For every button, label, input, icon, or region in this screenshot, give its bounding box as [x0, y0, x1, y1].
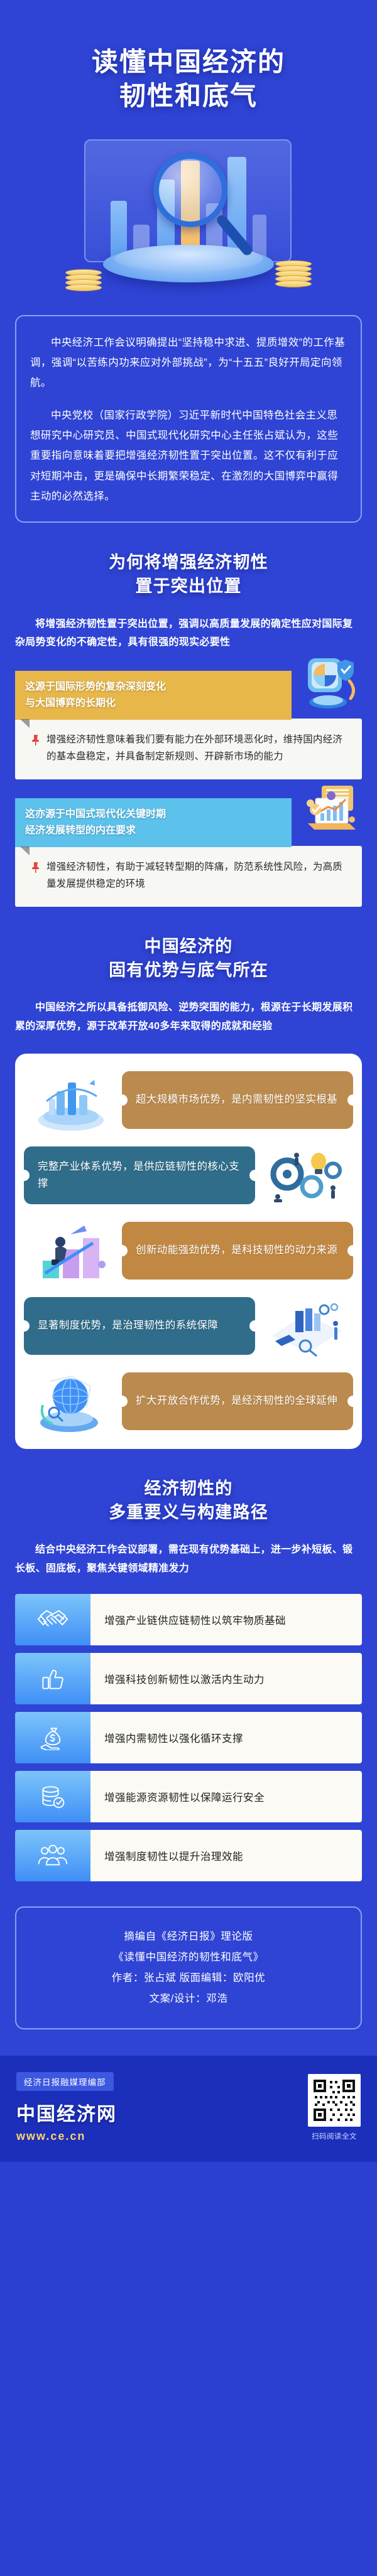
advantage-label: 超大规模市场优势，是内需韧性的坚实根基: [122, 1071, 353, 1129]
advantage-label: 显著制度优势，是治理韧性的系统保障: [24, 1297, 255, 1355]
intro-paragraph-1: 中央经济工作会议明确提出“坚持稳中求进、提质增效”的工作基调，强调“以苦练内功来…: [30, 333, 347, 393]
path-row: 增强制度韧性以提升治理效能: [15, 1830, 362, 1881]
thumbs-up-icon: [15, 1653, 90, 1704]
footer-url[interactable]: www.ce.cn: [16, 2130, 297, 2143]
infographic-page: 读懂中国经济的 韧性和底气 中央经济工作会议明确提出“坚持稳中求进、: [0, 0, 377, 2162]
section-advantages-title: 中国经济的 固有优势与底气所在: [0, 934, 377, 983]
why-card-text: 增强经济韧性，有助于减轻转型期的阵痛，防范系统性风险，为高质量发展提供稳定的环境: [46, 858, 349, 893]
pie-chart-shield-icon: [297, 655, 362, 713]
section-paths-title-line2: 多重要义与构建路径: [0, 1500, 377, 1524]
section-advantages: 中国经济的 固有优势与底气所在 中国经济之所以具备抵御风险、逆势突围的能力，根源…: [0, 934, 377, 1449]
why-card-text: 增强经济韧性意味着我们要有能力在外部环境恶化时，维持国内经济的基本盘稳定，并具备…: [46, 731, 349, 766]
section-why-title: 为何将增强经济韧性 置于突出位置: [0, 550, 377, 599]
qr-code-icon[interactable]: [308, 2074, 361, 2127]
path-row: 增强产业链供应链韧性以筑牢物质基础: [15, 1594, 362, 1645]
footer-scan-hint: 扫码阅读全文: [308, 2131, 361, 2141]
money-bag-hand-icon: [15, 1712, 90, 1763]
section-paths-title: 经济韧性的 多重要义与构建路径: [0, 1477, 377, 1525]
page-title-line1: 读懂中国经济的: [0, 45, 377, 79]
advantage-row: 创新动能强劲优势，是科技韧性的动力来源: [24, 1213, 353, 1288]
advantage-row: 超大规模市场优势，是内需韧性的坚实根基: [24, 1062, 353, 1138]
section-advantages-lead: 中国经济之所以具备抵御风险、逆势突围的能力，根源在于长期发展积累的深厚优势，源于…: [15, 998, 362, 1035]
pushpin-icon: [30, 734, 40, 749]
footer-brand-name: 中国经济网: [16, 2098, 297, 2126]
why-card-body: 增强经济韧性意味着我们要有能力在外部环境恶化时，维持国内经济的基本盘稳定，并具备…: [15, 719, 362, 779]
globe-network-icon: [24, 1367, 118, 1435]
intro-paragraph-2: 中央党校（国家行政学院）习近平新时代中国特色社会主义思想研究中心研究员、中国式现…: [30, 405, 347, 506]
market-bars-globe-icon: [24, 1066, 118, 1134]
path-row: 增强科技创新韧性以激活内生动力: [15, 1653, 362, 1704]
credits-article-title: 《读懂中国经济的韧性和底气》: [28, 1947, 349, 1968]
section-paths: 经济韧性的 多重要义与构建路径 结合中央经济工作会议部署，需在现有优势基础上，进…: [0, 1477, 377, 1882]
magnifier-icon: [153, 153, 227, 227]
section-paths-title-line1: 经济韧性的: [0, 1477, 377, 1500]
coin-stack-left: [65, 271, 102, 291]
advantage-label: 创新动能强劲优势，是科技韧性的动力来源: [122, 1222, 353, 1280]
paths-list: 增强产业链供应链韧性以筑牢物质基础 增强科技创新韧性以激活内生动力: [15, 1594, 362, 1881]
report-growth-chart-icon: [297, 782, 362, 841]
advantage-label: 扩大开放合作优势，是经济韧性的全球延伸: [122, 1372, 353, 1430]
gears-lightbulb-icon: [259, 1141, 353, 1209]
intro-box: 中央经济工作会议明确提出“坚持稳中求进、提质增效”的工作基调，强调“以苦练内功来…: [15, 315, 362, 523]
hero-section: 读懂中国经济的 韧性和底气: [0, 0, 377, 294]
footer-qr-block: 扫码阅读全文: [308, 2074, 361, 2141]
path-row: 增强内需韧性以强化循环支撑: [15, 1712, 362, 1763]
advantage-row: 扩大开放合作优势，是经济韧性的全球延伸: [24, 1364, 353, 1439]
section-why-lead: 将增强经济韧性置于突出位置，强调以高质量发展的确定性应对国际复杂局势变化的不确定…: [15, 615, 362, 652]
credits-author-editor: 作者：张占斌 版面编辑：欧阳优: [28, 1968, 349, 1989]
why-card-banner: 这亦源于中国式现代化关键时期 经济发展转型的内在要求: [15, 798, 292, 847]
section-paths-lead: 结合中央经济工作会议部署，需在现有优势基础上，进一步补短板、锻长板、固底板，聚焦…: [15, 1541, 362, 1578]
why-card-banner-line1: 这源于国际形势的复杂深刻变化: [25, 679, 280, 695]
credits-box: 摘编自《经济日报》理论版 《读懂中国经济的韧性和底气》 作者：张占斌 版面编辑：…: [15, 1906, 362, 2029]
handshake-icon: [15, 1594, 90, 1645]
section-advantages-title-line1: 中国经济的: [0, 934, 377, 958]
path-label: 增强内需韧性以强化循环支撑: [90, 1712, 362, 1763]
path-label: 增强能源资源韧性以保障运行安全: [90, 1771, 362, 1822]
page-title: 读懂中国经济的 韧性和底气: [0, 45, 377, 113]
why-card: 这源于国际形势的复杂深刻变化 与大国博弈的长期化 增强经济韧性意味着我们要有能力…: [15, 671, 362, 779]
hero-illustration: [65, 139, 312, 294]
advantage-row: 显著制度优势，是治理韧性的系统保障: [24, 1288, 353, 1364]
path-label: 增强产业链供应链韧性以筑牢物质基础: [90, 1594, 362, 1645]
footer-department: 经济日报融媒理编部: [16, 2072, 114, 2091]
coin-stack-check-icon: [15, 1771, 90, 1822]
why-card-banner-line2: 经济发展转型的内在要求: [25, 823, 280, 839]
credits-designer: 文案/设计：邓浩: [28, 1989, 349, 2009]
why-card-banner: 这源于国际形势的复杂深刻变化 与大国博弈的长期化: [15, 671, 292, 720]
people-group-icon: [15, 1830, 90, 1881]
footer-brand-block: 经济日报融媒理编部 中国经济网 www.ce.cn: [16, 2072, 297, 2143]
path-label: 增强科技创新韧性以激活内生动力: [90, 1653, 362, 1704]
businessman-climbing-chart-icon: [24, 1217, 118, 1285]
section-why-title-line2: 置于突出位置: [0, 574, 377, 598]
section-advantages-title-line2: 固有优势与底气所在: [0, 958, 377, 982]
advantage-row: 完整产业体系优势，是供应链韧性的核心支撑: [24, 1138, 353, 1213]
credits-source: 摘编自《经济日报》理论版: [28, 1927, 349, 1947]
why-card-body: 增强经济韧性，有助于减轻转型期的阵痛，防范系统性风险，为高质量发展提供稳定的环境: [15, 846, 362, 907]
path-label: 增强制度韧性以提升治理效能: [90, 1830, 362, 1881]
books-research-icon: [259, 1292, 353, 1360]
page-title-line2: 韧性和底气: [0, 79, 377, 113]
coin-stack-right: [275, 262, 312, 287]
why-card-banner-line1: 这亦源于中国式现代化关键时期: [25, 806, 280, 823]
why-card-banner-line2: 与大国博弈的长期化: [25, 695, 280, 712]
section-why-title-line1: 为何将增强经济韧性: [0, 550, 377, 574]
section-why: 为何将增强经济韧性 置于突出位置 将增强经济韧性置于突出位置，强调以高质量发展的…: [0, 550, 377, 907]
pushpin-icon: [30, 861, 40, 877]
advantage-label: 完整产业体系优势，是供应链韧性的核心支撑: [24, 1146, 255, 1204]
path-row: 增强能源资源韧性以保障运行安全: [15, 1771, 362, 1822]
advantages-list: 超大规模市场优势，是内需韧性的坚实根基: [15, 1054, 362, 1449]
why-card: 这亦源于中国式现代化关键时期 经济发展转型的内在要求 增强经济韧性，有助于减轻转…: [15, 798, 362, 907]
footer: 经济日报融媒理编部 中国经济网 www.ce.cn: [0, 2056, 377, 2162]
